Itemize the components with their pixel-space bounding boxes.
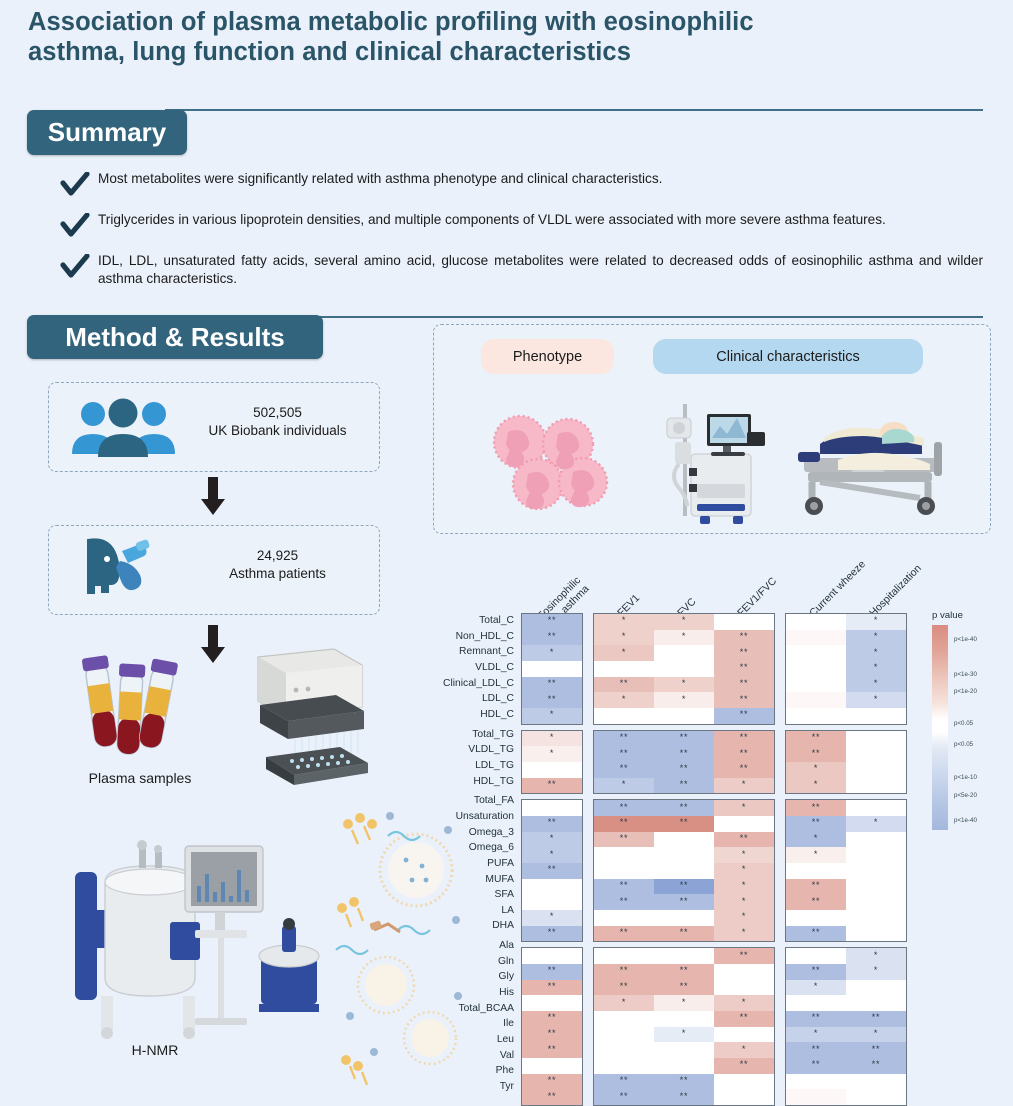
heatmap-cell[interactable] bbox=[846, 926, 906, 942]
heatmap-block: ****** bbox=[785, 730, 907, 795]
heatmap-cell[interactable]: ** bbox=[654, 800, 714, 816]
heatmap-cell[interactable] bbox=[654, 661, 714, 677]
plasma-samples-caption: Plasma samples bbox=[60, 770, 220, 786]
heatmap-cell[interactable]: ** bbox=[714, 661, 774, 677]
graphical-abstract: Association of plasma metabolic profilin… bbox=[0, 0, 1013, 1085]
cohort-label: UK Biobank individuals bbox=[190, 422, 365, 440]
heatmap-cell[interactable] bbox=[714, 614, 774, 630]
heatmap-cell[interactable] bbox=[522, 762, 582, 778]
summary-bullet-list: Most metabolites were significantly rela… bbox=[60, 170, 985, 301]
heatmap-cell[interactable]: ** bbox=[786, 731, 846, 747]
heatmap-cell[interactable] bbox=[714, 980, 774, 996]
heatmap-cell[interactable] bbox=[786, 692, 846, 708]
heatmap-cell[interactable]: * bbox=[594, 778, 654, 794]
heatmap-cell[interactable] bbox=[594, 661, 654, 677]
heatmap-cell[interactable]: * bbox=[846, 614, 906, 630]
heatmap-cell[interactable]: ** bbox=[654, 746, 714, 762]
heatmap-cell[interactable] bbox=[846, 731, 906, 747]
heatmap-row-label: Total_C bbox=[440, 613, 518, 629]
heatmap-row-label: VLDL_C bbox=[440, 660, 518, 676]
heatmap-block: ********** bbox=[521, 613, 583, 725]
heatmap-cell[interactable]: ** bbox=[522, 1089, 582, 1105]
heatmap-cell[interactable]: ** bbox=[522, 964, 582, 980]
heatmap-row-label: Unsaturation bbox=[440, 809, 518, 825]
heatmap-row-label: Ile bbox=[440, 1016, 518, 1032]
heatmap-cell[interactable] bbox=[786, 910, 846, 926]
heatmap-cell[interactable] bbox=[846, 1089, 906, 1105]
heatmap-cell[interactable]: ** bbox=[522, 980, 582, 996]
heatmap-cell[interactable]: * bbox=[654, 995, 714, 1011]
heatmap-column bbox=[786, 614, 846, 724]
heatmap-cell[interactable] bbox=[654, 645, 714, 661]
heatmap-cell[interactable]: * bbox=[522, 746, 582, 762]
heatmap-cell[interactable]: ** bbox=[786, 816, 846, 832]
heatmap-cell[interactable] bbox=[786, 1074, 846, 1090]
heatmap-cell[interactable]: * bbox=[654, 614, 714, 630]
heatmap-cell[interactable]: ** bbox=[594, 677, 654, 693]
heatmap-block: ********* bbox=[521, 799, 583, 942]
heatmap-cell[interactable] bbox=[594, 1027, 654, 1043]
heatmap-cell[interactable]: ** bbox=[786, 1011, 846, 1027]
legend-tick: p<1e-20 bbox=[954, 688, 977, 695]
heatmap-cell[interactable] bbox=[846, 894, 906, 910]
list-item: Triglycerides in various lipoprotein den… bbox=[60, 211, 985, 239]
legend-tick: p<0.05 bbox=[954, 720, 973, 727]
spirometer-machine-icon bbox=[645, 398, 770, 531]
heatmap-cell[interactable]: ** bbox=[594, 762, 654, 778]
down-arrow-icon bbox=[200, 625, 226, 670]
inhaler-patient-icon bbox=[80, 535, 175, 610]
heatmap-cell[interactable]: * bbox=[594, 614, 654, 630]
heatmap-cell[interactable]: * bbox=[594, 995, 654, 1011]
heatmap-column: * bbox=[846, 800, 906, 941]
heatmap-cell[interactable]: * bbox=[714, 800, 774, 816]
heatmap-cell[interactable]: ** bbox=[786, 894, 846, 910]
heatmap-row-label: SFA bbox=[440, 887, 518, 903]
heatmap-row-label: Ala bbox=[440, 938, 518, 954]
heatmap-cell[interactable]: ** bbox=[714, 948, 774, 964]
heatmap-cell[interactable] bbox=[846, 708, 906, 724]
heatmap-cell[interactable]: * bbox=[786, 832, 846, 848]
heatmap-cell[interactable]: ** bbox=[594, 964, 654, 980]
nmr-caption: H-NMR bbox=[105, 1042, 205, 1058]
heatmap-cell[interactable] bbox=[786, 995, 846, 1011]
summary-section-banner: Summary bbox=[27, 110, 187, 155]
heatmap-cell[interactable]: * bbox=[594, 630, 654, 646]
heatmap-column: ********* bbox=[594, 948, 654, 1105]
heatmap-cell[interactable]: * bbox=[846, 1027, 906, 1043]
heatmap-row-label: PUFA bbox=[440, 856, 518, 872]
legend-tick: p<5e-20 bbox=[954, 792, 977, 799]
heatmap-column-header: Hospitalization bbox=[868, 563, 924, 619]
heatmap-block: ************* bbox=[785, 799, 907, 942]
heatmap-column: ******* bbox=[594, 731, 654, 794]
heatmap-cell[interactable]: ** bbox=[522, 1074, 582, 1090]
heatmap-cell[interactable]: ** bbox=[522, 778, 582, 794]
liquid-handler-icon bbox=[240, 645, 370, 790]
list-item: Most metabolites were significantly rela… bbox=[60, 170, 985, 198]
heatmap-row-label: Remnant_C bbox=[440, 644, 518, 660]
heatmap-cell[interactable]: ** bbox=[594, 832, 654, 848]
title-line-1: Association of plasma metabolic profilin… bbox=[28, 8, 983, 38]
hospital-bed-icon bbox=[790, 408, 950, 523]
heatmap-cell[interactable] bbox=[846, 778, 906, 794]
heatmap-block: ******************* bbox=[785, 947, 907, 1106]
heatmap-row-label: Gln bbox=[440, 954, 518, 970]
heatmap-cell[interactable] bbox=[846, 847, 906, 863]
heatmap-cell[interactable]: ** bbox=[714, 731, 774, 747]
heatmap-cell[interactable]: ** bbox=[654, 926, 714, 942]
heatmap-cell[interactable]: ** bbox=[594, 894, 654, 910]
heatmap-cell[interactable]: * bbox=[786, 980, 846, 996]
heatmap-row-label: Leu bbox=[440, 1032, 518, 1048]
heatmap-cell[interactable] bbox=[522, 879, 582, 895]
heatmap-column: ********* bbox=[714, 800, 774, 941]
heatmap-column: ************ bbox=[594, 800, 654, 941]
summary-divider bbox=[165, 109, 983, 111]
heatmap-row-label: VLDL_TG bbox=[440, 742, 518, 758]
heatmap-column: ********* bbox=[846, 948, 906, 1105]
clinical-characteristics-pill: Clinical characteristics bbox=[653, 339, 923, 374]
heatmap-cell[interactable] bbox=[786, 630, 846, 646]
heatmap-column: ********** bbox=[522, 614, 582, 724]
heatmap-cell[interactable]: ** bbox=[714, 746, 774, 762]
heatmap-cell[interactable] bbox=[594, 948, 654, 964]
list-item: IDL, LDL, unsaturated fatty acids, sever… bbox=[60, 252, 985, 288]
heatmap-cell[interactable]: * bbox=[594, 692, 654, 708]
heatmap-cell[interactable]: ** bbox=[522, 926, 582, 942]
legend-tick: p<0.05 bbox=[954, 741, 973, 748]
heatmap-cell[interactable]: * bbox=[846, 630, 906, 646]
heatmap-cell[interactable] bbox=[654, 708, 714, 724]
heatmap-cell[interactable]: * bbox=[846, 948, 906, 964]
heatmap-cell[interactable]: ** bbox=[654, 980, 714, 996]
heatmap-block: ********************** bbox=[593, 613, 775, 725]
heatmap-cell[interactable]: ** bbox=[594, 816, 654, 832]
heatmap-cell[interactable]: ** bbox=[654, 879, 714, 895]
heatmap-row-label: MUFA bbox=[440, 872, 518, 888]
heatmap-legend: p value p<1e-40p<1e-30p<1e-20p<0.05p<0.0… bbox=[932, 610, 1012, 830]
legend-title: p value bbox=[932, 610, 1012, 621]
heatmap-cell[interactable]: * bbox=[786, 847, 846, 863]
heatmap-cell[interactable] bbox=[594, 1042, 654, 1058]
heatmap-row-label: Omega_3 bbox=[440, 825, 518, 841]
heatmap-row-label: Non_HDL_C bbox=[440, 629, 518, 645]
heatmap-cell[interactable]: * bbox=[846, 645, 906, 661]
heatmap-cell[interactable]: ** bbox=[522, 1042, 582, 1058]
heatmap-cell[interactable] bbox=[786, 661, 846, 677]
heatmap-cell[interactable]: ** bbox=[714, 708, 774, 724]
heatmap-cell[interactable]: * bbox=[846, 692, 906, 708]
heatmap-cell[interactable] bbox=[786, 708, 846, 724]
heatmap-cell[interactable] bbox=[654, 832, 714, 848]
heatmap-column: ********** bbox=[786, 948, 846, 1105]
heatmap-cell[interactable] bbox=[846, 832, 906, 848]
heatmap-cell[interactable]: * bbox=[654, 692, 714, 708]
heatmap-cell[interactable]: ** bbox=[654, 1089, 714, 1105]
heatmap-cell[interactable]: ** bbox=[654, 778, 714, 794]
heatmap-cell[interactable]: * bbox=[522, 847, 582, 863]
heatmap-cell[interactable]: ** bbox=[786, 964, 846, 980]
legend-tick: p<1e-40 bbox=[954, 636, 977, 643]
heatmap-cell[interactable] bbox=[714, 1027, 774, 1043]
heatmap-column: ************** bbox=[522, 948, 582, 1105]
heatmap-column: ************ bbox=[786, 800, 846, 941]
heatmap-cell[interactable] bbox=[846, 746, 906, 762]
heatmap-cell[interactable]: * bbox=[846, 816, 906, 832]
heatmap-cell[interactable]: * bbox=[522, 910, 582, 926]
heatmap-row-label: HDL_C bbox=[440, 707, 518, 723]
heatmap-cell[interactable]: ** bbox=[594, 746, 654, 762]
heatmap-block: ****** bbox=[785, 613, 907, 725]
heatmap-column: ********** bbox=[654, 948, 714, 1105]
heatmap-cell[interactable]: ** bbox=[714, 762, 774, 778]
heatmap-cell[interactable] bbox=[714, 1074, 774, 1090]
heatmap-row-label: HDL_TG bbox=[440, 774, 518, 790]
heatmap-cell[interactable]: ** bbox=[786, 926, 846, 942]
heatmap-cell[interactable]: ** bbox=[594, 879, 654, 895]
legend-tick: p<1e-30 bbox=[954, 671, 977, 678]
heatmap-column: ****** bbox=[594, 614, 654, 724]
heatmap-cell[interactable] bbox=[846, 995, 906, 1011]
heatmap-block: ************** bbox=[521, 947, 583, 1106]
heatmap-row-labels: Total_CNon_HDL_CRemnant_CVLDL_CClinical_… bbox=[440, 613, 518, 1095]
heatmap-cell[interactable]: ** bbox=[594, 1074, 654, 1090]
heatmap-cell[interactable]: ** bbox=[846, 1058, 906, 1074]
heatmap-cell[interactable]: ** bbox=[714, 677, 774, 693]
heatmap-cell[interactable]: * bbox=[714, 778, 774, 794]
heatmap-cell[interactable]: ** bbox=[654, 816, 714, 832]
heatmap-row-label: His bbox=[440, 985, 518, 1001]
patient-label: Asthma patients bbox=[190, 565, 365, 583]
heatmap-column: ******** bbox=[714, 948, 774, 1105]
heatmap-cell[interactable]: ** bbox=[594, 800, 654, 816]
heatmap-cell[interactable]: ** bbox=[594, 731, 654, 747]
heatmap-row-label: LDL_TG bbox=[440, 758, 518, 774]
heatmap-cell[interactable]: ** bbox=[846, 1042, 906, 1058]
heatmap-cell[interactable]: * bbox=[522, 708, 582, 724]
heatmap-cell[interactable]: ** bbox=[522, 677, 582, 693]
heatmap-cell[interactable]: * bbox=[522, 731, 582, 747]
heatmap-row-label: LDL_C bbox=[440, 691, 518, 707]
heatmap-cell[interactable]: * bbox=[786, 762, 846, 778]
heatmap-cell[interactable] bbox=[714, 964, 774, 980]
heatmap-cell[interactable]: ** bbox=[714, 832, 774, 848]
heatmap-cell[interactable]: ** bbox=[522, 692, 582, 708]
heatmap-cell[interactable] bbox=[654, 1058, 714, 1074]
heatmap-cell[interactable]: * bbox=[522, 645, 582, 661]
legend-colorbar: p<1e-40p<1e-30p<1e-20p<0.05p<0.05p<1e-10… bbox=[932, 625, 948, 830]
heatmap-cell[interactable]: ** bbox=[714, 630, 774, 646]
heatmap-cell[interactable] bbox=[654, 847, 714, 863]
heatmap-cell[interactable]: * bbox=[654, 1027, 714, 1043]
heatmap-cell[interactable]: ** bbox=[786, 1042, 846, 1058]
heatmap-column: ********* bbox=[522, 800, 582, 941]
check-icon bbox=[60, 254, 98, 280]
heatmap-cell[interactable] bbox=[654, 910, 714, 926]
heatmap-cell[interactable]: ** bbox=[594, 980, 654, 996]
heatmap-row-label: Tyr bbox=[440, 1079, 518, 1095]
heatmap-cell[interactable]: ** bbox=[522, 863, 582, 879]
heatmap-cell[interactable] bbox=[594, 1011, 654, 1027]
check-icon bbox=[60, 172, 98, 198]
heatmap-cell[interactable] bbox=[594, 910, 654, 926]
heatmap-row-label: Phe bbox=[440, 1063, 518, 1079]
summary-bullet-text: IDL, LDL, unsaturated fatty acids, sever… bbox=[98, 252, 985, 288]
heatmap-cell[interactable] bbox=[522, 661, 582, 677]
heatmap-cell[interactable] bbox=[846, 879, 906, 895]
heatmap-cell[interactable] bbox=[846, 910, 906, 926]
summary-bullet-text: Triglycerides in various lipoprotein den… bbox=[98, 211, 888, 229]
heatmap-cell[interactable]: ** bbox=[714, 645, 774, 661]
heatmap-column bbox=[846, 731, 906, 794]
phenotype-pill: Phenotype bbox=[481, 339, 614, 374]
heatmap-cell[interactable] bbox=[846, 980, 906, 996]
legend-tick-labels: p<1e-40p<1e-30p<1e-20p<0.05p<0.05p<1e-10… bbox=[954, 625, 1012, 830]
heatmap-cell[interactable]: ** bbox=[594, 1089, 654, 1105]
cohort-count: 502,505 bbox=[190, 404, 365, 422]
heatmap-cell[interactable] bbox=[522, 948, 582, 964]
method-section-label: Method & Results bbox=[65, 322, 285, 353]
heatmap-row-label: Total_BCAA bbox=[440, 1001, 518, 1017]
legend-tick: p<1e-10 bbox=[954, 774, 977, 781]
heatmap-cell[interactable]: ** bbox=[786, 1058, 846, 1074]
heatmap-cell[interactable]: * bbox=[714, 847, 774, 863]
heatmap-cell[interactable]: * bbox=[846, 661, 906, 677]
heatmap-cell[interactable] bbox=[654, 948, 714, 964]
heatmap-cell[interactable]: ** bbox=[654, 762, 714, 778]
heatmap-cell[interactable]: ** bbox=[714, 1058, 774, 1074]
heatmap-cell[interactable] bbox=[786, 645, 846, 661]
heatmap-cell[interactable] bbox=[594, 863, 654, 879]
method-section-banner: Method & Results bbox=[27, 315, 323, 359]
heatmap-cell[interactable]: * bbox=[714, 910, 774, 926]
heatmap-cell[interactable]: ** bbox=[522, 614, 582, 630]
heatmap-cell[interactable]: ** bbox=[786, 800, 846, 816]
heatmap-column: ********** bbox=[654, 800, 714, 941]
heatmap-row-label: Gly bbox=[440, 969, 518, 985]
heatmap-cell[interactable] bbox=[846, 1074, 906, 1090]
method-divider bbox=[300, 316, 983, 318]
heatmap-cell[interactable]: * bbox=[714, 894, 774, 910]
heatmap-cell[interactable]: * bbox=[654, 677, 714, 693]
people-group-icon bbox=[68, 396, 180, 463]
heatmap-cell[interactable] bbox=[654, 1011, 714, 1027]
heatmap-cell[interactable]: * bbox=[846, 677, 906, 693]
heatmap-column: ******* bbox=[714, 731, 774, 794]
summary-section-label: Summary bbox=[48, 117, 167, 148]
heatmap-cell[interactable] bbox=[846, 863, 906, 879]
heatmap-cell[interactable] bbox=[846, 762, 906, 778]
heatmap-cell[interactable]: ** bbox=[522, 1027, 582, 1043]
heatmap-cell[interactable] bbox=[522, 1058, 582, 1074]
heatmap-column: ****** bbox=[786, 731, 846, 794]
heatmap-cell[interactable] bbox=[786, 863, 846, 879]
check-icon bbox=[60, 213, 98, 239]
heatmap-column: ******** bbox=[654, 731, 714, 794]
heatmap-cell[interactable]: ** bbox=[714, 692, 774, 708]
heatmap-cell[interactable] bbox=[522, 800, 582, 816]
heatmap-block: ********************** bbox=[593, 730, 775, 795]
summary-bullet-text: Most metabolites were significantly rela… bbox=[98, 170, 664, 188]
heatmap-column: **** bbox=[522, 731, 582, 794]
heatmap-cell[interactable]: * bbox=[714, 879, 774, 895]
heatmap-row-label: DHA bbox=[440, 918, 518, 934]
cohort-text: 502,505 UK Biobank individuals bbox=[190, 404, 365, 440]
heatmap-cell[interactable]: * bbox=[714, 995, 774, 1011]
heatmap-cell[interactable] bbox=[714, 816, 774, 832]
heatmap-block: *************************** bbox=[593, 947, 775, 1106]
heatmap-cell[interactable] bbox=[786, 677, 846, 693]
heatmap-cell[interactable] bbox=[594, 1058, 654, 1074]
heatmap-cell[interactable] bbox=[786, 1089, 846, 1105]
heatmap-cell[interactable]: ** bbox=[654, 964, 714, 980]
heatmap-column-header: Current wheeze bbox=[808, 559, 869, 620]
heatmap-block: **** bbox=[521, 730, 583, 795]
heatmap-cell[interactable]: ** bbox=[846, 1011, 906, 1027]
heatmap-cell[interactable]: * bbox=[714, 1042, 774, 1058]
heatmap-cell[interactable]: * bbox=[594, 645, 654, 661]
nmr-spectrometer-icon bbox=[55, 830, 355, 1050]
heatmap-cell[interactable] bbox=[654, 1042, 714, 1058]
heatmap-row-label: LA bbox=[440, 903, 518, 919]
heatmap-cell[interactable] bbox=[522, 894, 582, 910]
heatmap-cell[interactable]: ** bbox=[786, 746, 846, 762]
heatmap-cell[interactable] bbox=[522, 995, 582, 1011]
heatmap-cell[interactable]: * bbox=[786, 778, 846, 794]
heatmap-cell[interactable]: ** bbox=[654, 731, 714, 747]
heatmap-cell[interactable]: * bbox=[714, 926, 774, 942]
heatmap-cell[interactable]: * bbox=[786, 1027, 846, 1043]
down-arrow-icon bbox=[200, 477, 226, 522]
clinical-pill-label: Clinical characteristics bbox=[716, 349, 859, 365]
heatmap-cell[interactable]: * bbox=[522, 832, 582, 848]
heatmap-row-label: Clinical_LDL_C bbox=[440, 676, 518, 692]
patient-count: 24,925 bbox=[190, 547, 365, 565]
legend-tick: p<1e-40 bbox=[954, 817, 977, 824]
heatmap-cell[interactable]: ** bbox=[714, 1011, 774, 1027]
heatmap-row-label: Val bbox=[440, 1048, 518, 1064]
heatmap-cell[interactable]: ** bbox=[654, 894, 714, 910]
heatmap-cell[interactable]: * bbox=[714, 863, 774, 879]
heatmap-cell[interactable] bbox=[786, 614, 846, 630]
heatmap-cell[interactable]: * bbox=[846, 964, 906, 980]
heatmap-row-label: Omega_6 bbox=[440, 840, 518, 856]
heatmap-cell[interactable] bbox=[714, 1089, 774, 1105]
heatmap-cell[interactable] bbox=[594, 847, 654, 863]
heatmap-cell[interactable]: ** bbox=[522, 816, 582, 832]
heatmap-block: ******************************* bbox=[593, 799, 775, 942]
heatmap-cell[interactable]: ** bbox=[654, 1074, 714, 1090]
heatmap-cell[interactable]: ** bbox=[786, 879, 846, 895]
title-line-2: asthma, lung function and clinical chara… bbox=[28, 38, 983, 68]
heatmap-column: ****** bbox=[846, 614, 906, 724]
heatmap-row-label: Total_TG bbox=[440, 727, 518, 743]
heatmap-cell[interactable] bbox=[594, 708, 654, 724]
heatmap-row-label: Total_FA bbox=[440, 793, 518, 809]
heatmap-cell[interactable] bbox=[786, 948, 846, 964]
heatmap-cell[interactable]: ** bbox=[522, 1011, 582, 1027]
heatmap-cell[interactable] bbox=[654, 863, 714, 879]
phenotype-pill-label: Phenotype bbox=[513, 349, 582, 365]
heatmap-cell[interactable]: * bbox=[654, 630, 714, 646]
blood-tubes-icon bbox=[75, 650, 180, 770]
patient-text: 24,925 Asthma patients bbox=[190, 547, 365, 583]
heatmap-cell[interactable]: ** bbox=[522, 630, 582, 646]
heatmap-cell[interactable]: ** bbox=[594, 926, 654, 942]
heatmap-cell[interactable] bbox=[846, 800, 906, 816]
page-title: Association of plasma metabolic profilin… bbox=[28, 8, 983, 68]
